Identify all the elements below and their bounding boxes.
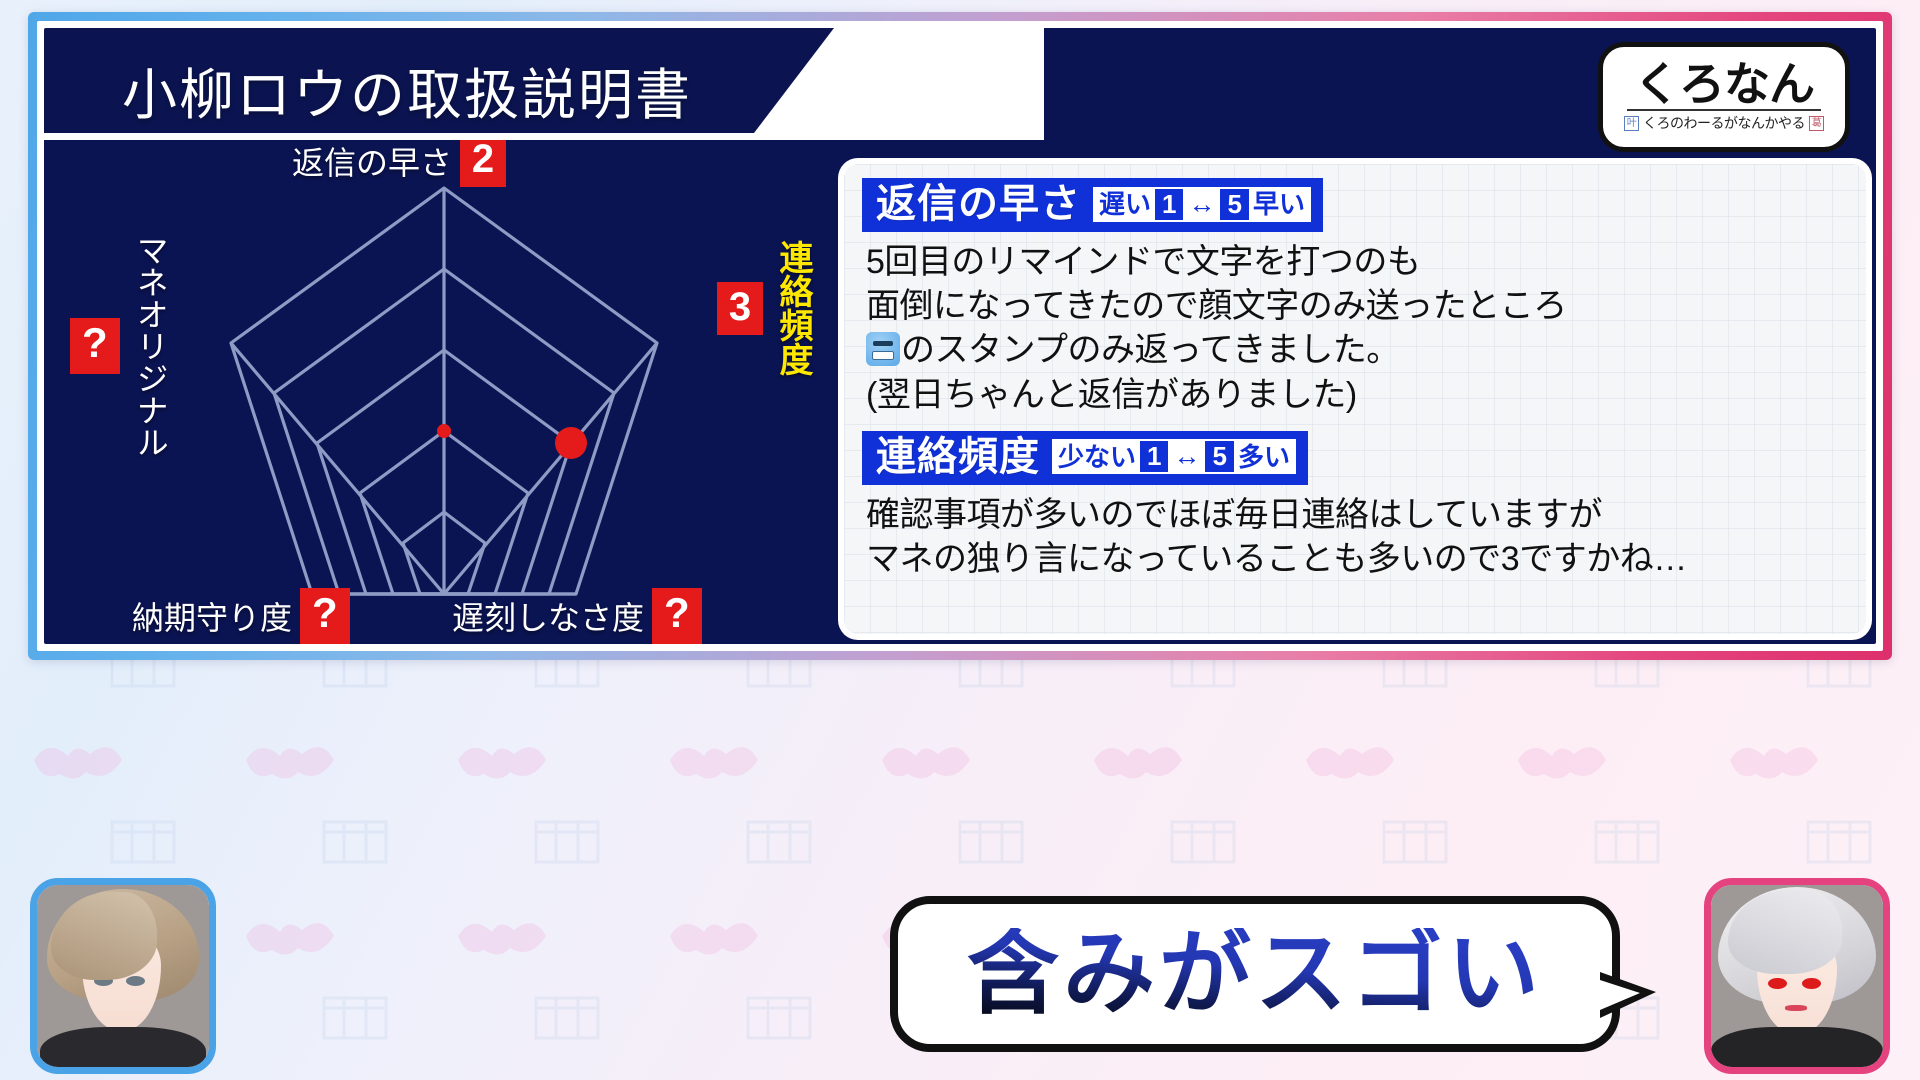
radar-grid <box>164 166 724 636</box>
axis-score-badge: 3 <box>717 282 763 335</box>
axis-label-reply-speed: 返信の早さ 2 <box>292 134 506 187</box>
body-line: 面倒になってきたので顔文字のみ送ったところ <box>866 284 1848 328</box>
section-reply-speed: 返信の早さ 遅い 1 ↔ 5 早い 5回目のリマインドで文字を打つのも <box>862 178 1848 417</box>
axis-label-deadline: 納期守り度 ? <box>132 588 350 644</box>
axis-label-text: 遅刻しなさ度 <box>452 593 644 639</box>
card-content: 返信の早さ 遅い 1 ↔ 5 早い 5回目のリマインドで文字を打つのも <box>844 164 1866 581</box>
avatar-right <box>1704 878 1890 1074</box>
section-scale: 遅い 1 ↔ 5 早い <box>1093 187 1311 222</box>
mouth <box>1785 1005 1807 1010</box>
section-body: 確認事項が多いのでほぼ毎日連絡はしていますが マネの独り言になっていることも多い… <box>866 493 1848 581</box>
eye-right <box>1802 978 1821 989</box>
scale-high-value: 5 <box>1205 441 1233 472</box>
data-point-renraku <box>555 427 587 459</box>
axis-label-text: 連絡頻度 <box>769 240 818 376</box>
data-point-henshin <box>437 424 451 438</box>
scale-low-value: 1 <box>1140 441 1168 472</box>
axis-score-badge: ? <box>300 588 350 644</box>
body <box>40 1027 205 1067</box>
axis-label-text: 納期守り度 <box>132 593 292 639</box>
logo-subtitle-text: くろのわーるがなんかやる <box>1643 113 1805 133</box>
scared-face-emoji-icon <box>866 332 900 366</box>
radar-chart: 返信の早さ 2 連絡頻度 3 マネオリジナル ? 納期守り度 ? 遅刻しなさ度 <box>54 136 824 644</box>
hair-bangs <box>51 892 158 979</box>
scale-low-label: 遅い <box>1099 191 1151 217</box>
speech-bubble-tail-inner <box>1600 980 1640 1010</box>
axis-label-text: マネオリジナル <box>128 234 174 458</box>
body-line: (翌日ちゃんと返信がありました) <box>866 373 1848 417</box>
content-panel: 小柳ロウの取扱説明書 くろなん 叶 くろのわーるがなんかやる 葛 <box>44 28 1876 644</box>
body <box>1711 1027 1883 1067</box>
section-body: 5回目のリマインドで文字を打つのも 面倒になってきたので顔文字のみ送ったところ … <box>866 240 1848 417</box>
logo-right-chip: 葛 <box>1809 116 1824 131</box>
main-frame: 小柳ロウの取扱説明書 くろなん 叶 くろのわーるがなんかやる 葛 <box>28 12 1892 660</box>
scale-high-label: 早い <box>1253 191 1305 217</box>
scale-arrow-icon: ↔ <box>1172 443 1201 470</box>
speech-bubble-text: 含みがスゴい <box>967 928 1543 1020</box>
section-scale: 少ない 1 ↔ 5 多い <box>1052 439 1296 474</box>
eye-left <box>1768 978 1787 989</box>
axis-label-contact-frequency: 連絡頻度 3 <box>717 240 818 376</box>
axis-score-badge: 2 <box>460 134 506 187</box>
page-title: 小柳ロウの取扱説明書 <box>122 50 692 130</box>
section-header: 連絡頻度 少ない 1 ↔ 5 多い <box>862 431 1308 485</box>
section-contact-frequency: 連絡頻度 少ない 1 ↔ 5 多い 確認事項が多いのでほぼ毎日連絡はしていますが <box>862 431 1848 581</box>
scale-high-value: 5 <box>1220 189 1248 220</box>
logo-divider <box>1627 109 1821 111</box>
logo-subtitle-row: 叶 くろのわーるがなんかやる 葛 <box>1624 113 1824 133</box>
body-line: 確認事項が多いのでほぼ毎日連絡はしていますが <box>866 493 1848 537</box>
speech-bubble: 含みがスゴい <box>890 896 1620 1052</box>
avatar-right-image <box>1711 885 1883 1067</box>
section-title: 返信の早さ <box>876 184 1081 224</box>
axis-score-badge: ? <box>652 588 702 644</box>
scale-low-value: 1 <box>1155 189 1183 220</box>
avatar-left-image <box>37 885 209 1067</box>
axis-label-text: 返信の早さ <box>292 138 452 184</box>
section-header: 返信の早さ 遅い 1 ↔ 5 早い <box>862 178 1323 232</box>
section-title: 連絡頻度 <box>876 437 1040 477</box>
logo-main-text: くろなん <box>1634 61 1814 107</box>
logo-left-chip: 叶 <box>1624 116 1639 131</box>
scale-low-label: 少ない <box>1058 444 1136 470</box>
axis-label-manager-original: マネオリジナル ? <box>70 234 174 458</box>
info-card: 返信の早さ 遅い 1 ↔ 5 早い 5回目のリマインドで文字を打つのも <box>844 164 1866 634</box>
frame-inner-white: 小柳ロウの取扱説明書 くろなん 叶 くろのわーるがなんかやる 葛 <box>37 21 1883 651</box>
body-line-with-emoji: のスタンプのみ返ってきました。 <box>866 328 1848 372</box>
axis-score-badge: ? <box>70 318 120 374</box>
body-line: マネの独り言になっていることも多いので3ですかね… <box>866 537 1848 581</box>
body-line: 5回目のリマインドで文字を打つのも <box>866 240 1848 284</box>
scale-high-label: 多い <box>1238 444 1290 470</box>
axis-label-punctuality: 遅刻しなさ度 ? <box>452 588 702 644</box>
avatar-left <box>30 878 216 1074</box>
scale-arrow-icon: ↔ <box>1187 191 1216 218</box>
channel-logo: くろなん 叶 くろのわーるがなんかやる 葛 <box>1598 42 1850 152</box>
body-line: のスタンプのみ返ってきました。 <box>901 331 1400 369</box>
